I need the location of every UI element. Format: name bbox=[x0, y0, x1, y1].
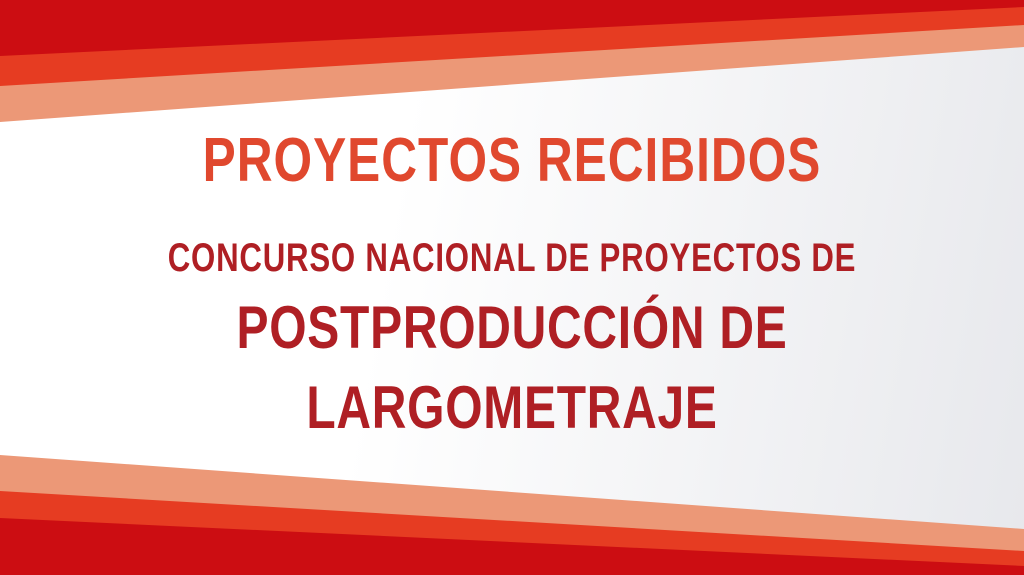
subtitle-line-1: CONCURSO NACIONAL DE PROYECTOS DE bbox=[113, 238, 912, 278]
page-title: PROYECTOS RECIBIDOS bbox=[102, 130, 921, 192]
slide-canvas: PROYECTOS RECIBIDOS CONCURSO NACIONAL DE… bbox=[0, 0, 1024, 575]
subtitle-line-2: POSTPRODUCCIÓN DE bbox=[102, 298, 921, 358]
subtitle-line-3: LARGOMETRAJE bbox=[102, 378, 921, 438]
slide-text-block: PROYECTOS RECIBIDOS CONCURSO NACIONAL DE… bbox=[0, 0, 1024, 575]
